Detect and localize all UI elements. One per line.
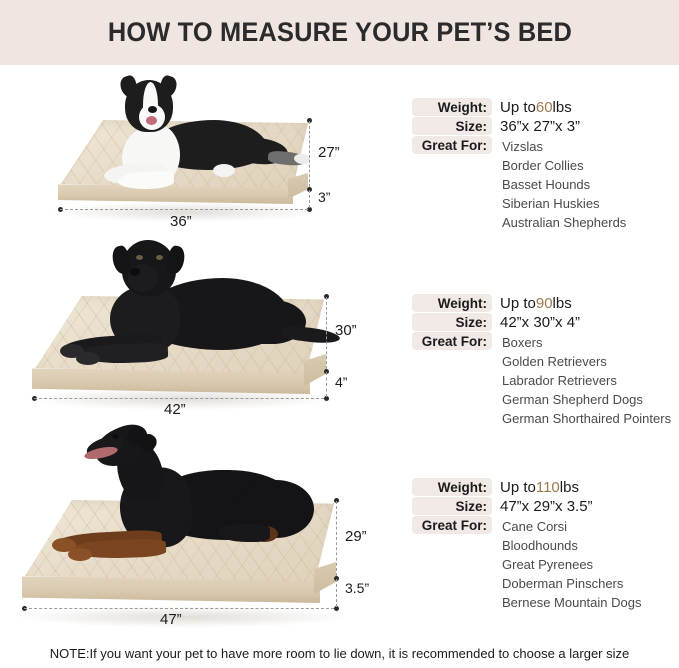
dog-eye [112, 434, 119, 439]
list-item: Border Collies [502, 156, 626, 175]
dog-paw-right [68, 548, 92, 561]
dim-line-length [34, 398, 324, 399]
weight-value: Up to 60 lbs [500, 98, 572, 116]
dim-label-length: 42” [164, 401, 186, 418]
dim-label-length: 47” [160, 611, 182, 628]
size-label: Size: [412, 117, 487, 135]
weight-number: 90 [536, 295, 553, 312]
list-item: German Shorthaired Pointers [502, 409, 671, 428]
header-band: HOW TO MEASURE YOUR PET’S BED [0, 0, 679, 65]
bed-illustration-large: 29” 3.5” 47” [0, 428, 400, 626]
weight-label: Weight: [412, 294, 487, 312]
list-item: German Shepherd Dogs [502, 390, 671, 409]
great-for-label: Great For: [412, 332, 487, 350]
dim-line-length [24, 608, 334, 609]
dog-eye-left [136, 255, 143, 260]
dim-line-height [336, 579, 337, 607]
breed-list: Boxers Golden Retrievers Labrador Retrie… [502, 333, 671, 428]
dog-tongue [146, 116, 157, 125]
bed-illustration-medium: 30” 4” 42” [0, 238, 400, 416]
size-value: 42”x 30”x 4” [500, 313, 580, 331]
weight-prefix: Up to [500, 295, 536, 312]
list-item: Labrador Retrievers [502, 371, 671, 390]
list-item: Vizslas [502, 137, 626, 156]
weight-number: 110 [536, 479, 560, 496]
dim-line-width [326, 297, 327, 369]
size-label: Size: [412, 497, 487, 515]
weight-value: Up to 90 lbs [500, 294, 572, 312]
page-title: HOW TO MEASURE YOUR PET’S BED [107, 17, 571, 48]
list-item: Australian Shepherds [502, 213, 626, 232]
dim-line-width [309, 121, 310, 187]
weight-number: 60 [536, 99, 553, 116]
bed-shadow [14, 606, 354, 628]
list-item: Siberian Huskies [502, 194, 626, 213]
list-item: Doberman Pinschers [502, 574, 641, 593]
dim-line-length [60, 209, 308, 210]
dim-line-height [309, 190, 310, 208]
weight-suffix: lbs [553, 99, 572, 116]
dog-paw-right [76, 352, 100, 365]
footer-note: NOTE:If you want your pet to have more r… [0, 646, 679, 661]
dim-label-width: 30” [335, 322, 357, 339]
dog-nose [130, 268, 140, 276]
weight-prefix: Up to [500, 99, 536, 116]
bed-row-medium: 30” 4” 42” Weight: Up to 90 lbs Size: 42… [0, 238, 679, 416]
size-value: 36”x 27”x 3” [500, 117, 580, 135]
dim-line-height [326, 372, 327, 397]
bed-illustration-small: 27” 3” 36” [0, 68, 400, 228]
weight-label: Weight: [412, 478, 487, 496]
bed-row-large: 29” 3.5” 47” Weight: Up to 110 lbs Size:… [0, 428, 679, 626]
dog-ear-right [157, 74, 179, 100]
list-item: Golden Retrievers [502, 352, 671, 371]
dim-label-width: 29” [345, 528, 367, 545]
weight-value: Up to 110 lbs [500, 478, 579, 496]
list-item: Bloodhounds [502, 536, 641, 555]
dim-label-width: 27” [318, 144, 340, 161]
great-for-label: Great For: [412, 136, 487, 154]
dim-label-height: 3” [318, 189, 330, 205]
dog-nose [148, 106, 157, 113]
weight-label: Weight: [412, 98, 487, 116]
size-label: Size: [412, 313, 487, 331]
weight-prefix: Up to [500, 479, 536, 496]
list-item: Great Pyrenees [502, 555, 641, 574]
dim-label-height: 3.5” [345, 580, 369, 596]
list-item: Boxers [502, 333, 671, 352]
great-for-label: Great For: [412, 516, 487, 534]
dim-label-length: 36” [170, 213, 192, 230]
dim-line-width [336, 501, 337, 576]
list-item: Basset Hounds [502, 175, 626, 194]
list-item: Cane Corsi [502, 517, 641, 536]
list-item: Bernese Mountain Dogs [502, 593, 641, 612]
bed-row-small: 27” 3” 36” Weight: Up to 60 lbs Size: 36… [0, 68, 679, 228]
breed-list: Vizslas Border Collies Basset Hounds Sib… [502, 137, 626, 232]
dog-ear-left [118, 74, 140, 100]
size-value: 47”x 29”x 3.5” [500, 497, 593, 515]
dim-label-height: 4” [335, 374, 347, 390]
weight-suffix: lbs [553, 295, 572, 312]
dog-eye-right [156, 255, 163, 260]
dog-hind-paw [213, 164, 235, 177]
weight-suffix: lbs [560, 479, 579, 496]
breed-list: Cane Corsi Bloodhounds Great Pyrenees Do… [502, 517, 641, 612]
